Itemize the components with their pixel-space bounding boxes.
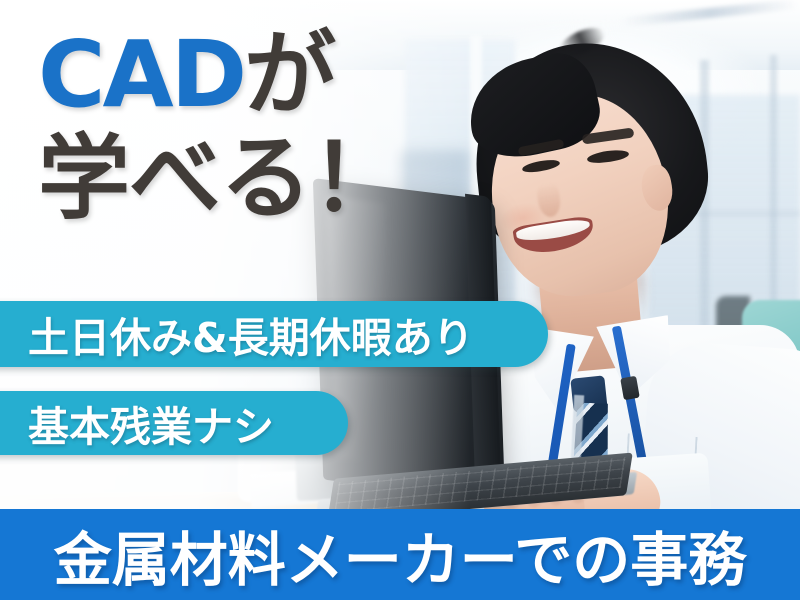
headline: CADが 学べる！: [38, 30, 468, 224]
job-title-banner-label: 金属材料メーカーでの事務: [54, 513, 747, 597]
benefit-pill-no-overtime-label: 基本残業ナシ: [0, 393, 274, 453]
headline-cad-text: CAD: [38, 21, 244, 128]
benefit-pill-no-overtime: 基本残業ナシ: [0, 391, 348, 455]
job-ad-poster: CADが 学べる！ 土日休み&長期休暇あり 基本残業ナシ 金属材料メーカーでの事…: [0, 0, 800, 600]
headline-line-1-suffix: が: [244, 21, 335, 128]
benefit-pill-holidays: 土日休み&長期休暇あり: [0, 301, 548, 367]
job-title-banner: 金属材料メーカーでの事務: [0, 509, 800, 600]
benefit-pill-holidays-label: 土日休み&長期休暇あり: [0, 304, 474, 364]
headline-line-2: 学べる！: [38, 134, 468, 224]
headline-line-1: CADが: [38, 30, 468, 120]
